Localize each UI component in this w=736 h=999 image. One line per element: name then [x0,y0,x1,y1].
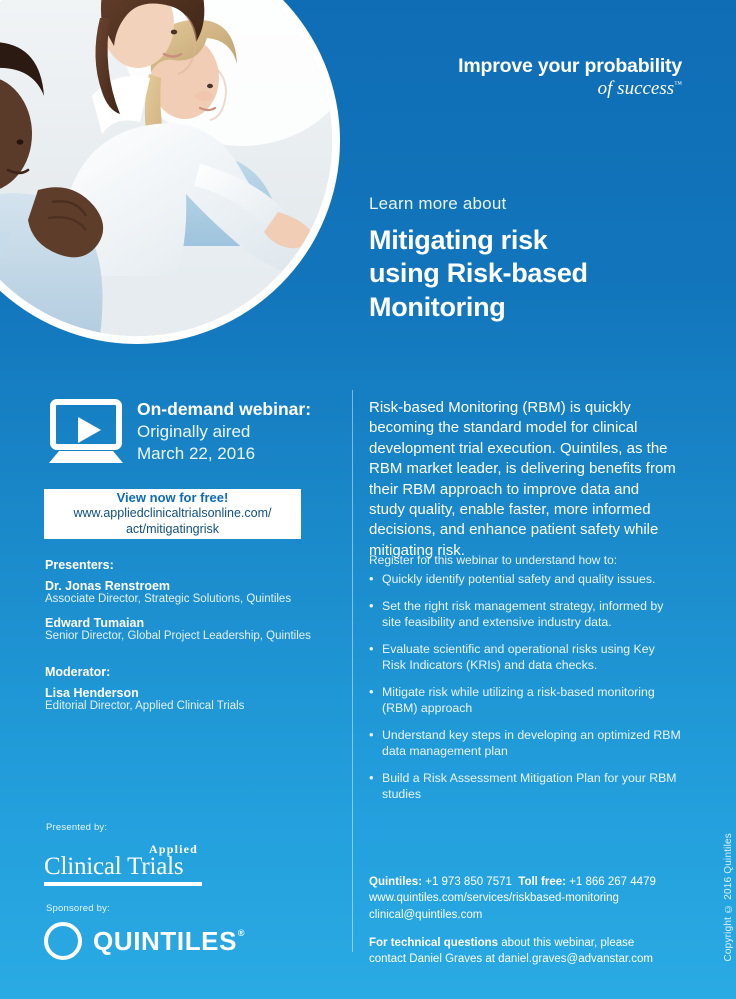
presenter-name: Dr. Jonas Renstroem [45,579,330,593]
contact-block: Quintiles: +1 973 850 7571 Toll free: +1… [369,874,689,968]
hero-photo [0,0,332,336]
technical-questions-label: For technical questions [369,937,498,949]
list-item: Set the right risk management strategy, … [369,599,681,631]
contact-website[interactable]: www.quintiles.com/services/riskbased-mon… [369,890,689,906]
contact-email[interactable]: clinical@quintiles.com [369,907,689,923]
presenters-label: Presenters: [45,558,330,572]
logo-clinical-trials-word: Clinical Trials [44,854,259,880]
moderator-name: Lisa Henderson [45,686,330,700]
headline-line-1: Mitigating risk [369,224,588,257]
logo-word-clinical: Clinical [44,853,122,880]
list-item: Mitigate risk while utilizing a risk-bas… [369,685,681,717]
tagline-line-2: of success™ [458,79,682,100]
list-item: Build a Risk Assessment Mitigation Plan … [369,771,681,803]
sponsored-by-label: Sponsored by: [46,903,110,914]
cta-url-line-2[interactable]: act/mitigatingrisk [48,522,297,538]
presenter-entry: Dr. Jonas Renstroem Associate Director, … [45,579,330,605]
list-item: Evaluate scientific and operational risk… [369,642,681,674]
register-lead-in: Register for this webinar to understand … [369,553,679,567]
applied-clinical-trials-logo: Applied Clinical Trials [44,843,259,886]
headline-line-2: using Risk-based [369,257,588,290]
trademark-symbol: ™ [674,80,682,89]
presented-by-label: Presented by: [46,822,107,833]
webinar-aired-label: Originally aired [137,421,311,443]
quintiles-registered-icon: ® [238,929,245,938]
contact-tollfree-number: +1 866 267 4479 [569,876,656,888]
presenter-role: Associate Director, Strategic Solutions,… [45,593,330,605]
brand-tagline: Improve your probability of success™ [458,56,682,100]
quintiles-logo: QUINTILES® [44,922,237,960]
people-section: Presenters: Dr. Jonas Renstroem Associat… [45,558,330,723]
quintiles-wordmark-text: QUINTILES [93,926,237,956]
page-title: Mitigating risk using Risk-based Monitor… [369,224,588,324]
webinar-aired-date: March 22, 2016 [137,443,311,465]
tagline-line-1: Improve your probability [458,56,682,77]
presenter-role: Senior Director, Global Project Leadersh… [45,630,330,642]
tagline-line-2-text: of success [598,78,675,99]
column-divider [352,390,353,952]
technical-questions-line-2: contact Daniel Graves at daniel.graves@a… [369,951,689,967]
benefits-list: Quickly identify potential safety and qu… [369,572,681,814]
cta-url-line-1[interactable]: www.appliedclinicaltrialsonline.com/ [48,506,297,522]
webinar-details: On-demand webinar: Originally aired Marc… [137,398,311,465]
cta-headline: View now for free! [48,490,297,506]
presenter-entry: Edward Tumaian Senior Director, Global P… [45,616,330,642]
presenter-name: Edward Tumaian [45,616,330,630]
technical-questions-block: For technical questions about this webin… [369,935,689,968]
logo-underline-rule [44,882,202,886]
laptop-play-icon [47,399,125,465]
moderator-role: Editorial Director, Applied Clinical Tri… [45,700,330,712]
technical-questions-line-1: For technical questions about this webin… [369,935,689,951]
flyer-page: Improve your probability of success™ Lea… [0,0,736,999]
intro-paragraph: Risk-based Monitoring (RBM) is quickly b… [369,398,677,561]
quintiles-wordmark: QUINTILES® [93,928,237,954]
headline-eyebrow: Learn more about [369,194,506,214]
copyright-notice: Copyright © 2016 Quintiles [723,833,734,962]
technical-questions-text: about this webinar, please [501,937,634,949]
hero-photo-frame [0,0,340,344]
cta-url-box[interactable]: View now for free! www.appliedclinicaltr… [44,489,301,539]
logo-word-trials: Trials [127,853,183,880]
moderator-entry: Lisa Henderson Editorial Director, Appli… [45,686,330,712]
moderator-label: Moderator: [45,665,330,679]
list-item: Understand key steps in developing an op… [369,728,681,760]
contact-tollfree-label: Toll free: [518,876,566,888]
section-spacer [45,653,330,665]
quintiles-ring-icon [44,922,82,960]
contact-phone-number: +1 973 850 7571 [425,876,512,888]
headline-line-3: Monitoring [369,291,588,324]
contact-phone-label: Quintiles: [369,876,422,888]
contact-phones: Quintiles: +1 973 850 7571 Toll free: +1… [369,874,689,890]
list-item: Quickly identify potential safety and qu… [369,572,681,588]
webinar-type-label: On-demand webinar: [137,398,311,421]
